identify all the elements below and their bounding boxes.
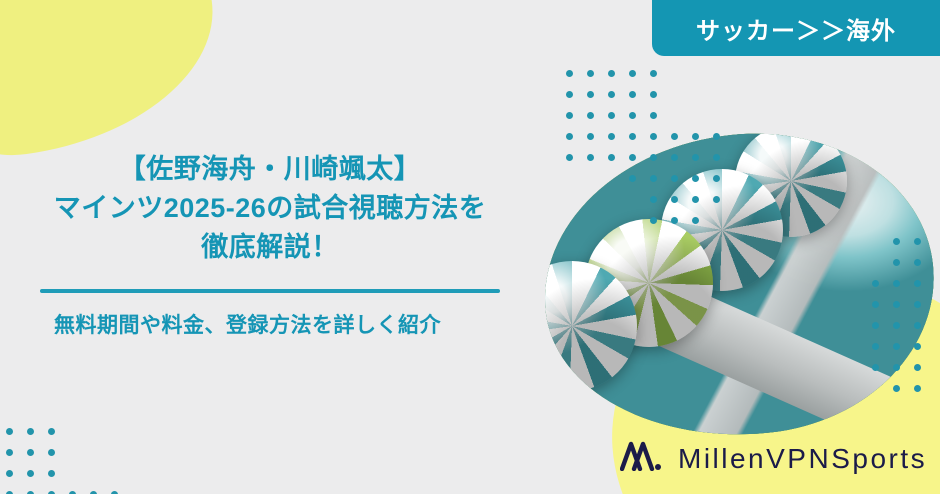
decorative-dot bbox=[671, 154, 678, 161]
decorative-dot bbox=[608, 91, 615, 98]
decorative-dot bbox=[566, 91, 573, 98]
decorative-dot bbox=[566, 133, 573, 140]
decorative-dot bbox=[872, 364, 879, 371]
decorative-dot bbox=[671, 175, 678, 182]
decorative-dot bbox=[872, 280, 879, 287]
decorative-dot bbox=[713, 196, 720, 203]
decorative-dot bbox=[914, 238, 921, 245]
decorative-dot bbox=[893, 301, 900, 308]
decorative-dot bbox=[893, 385, 900, 392]
category-badge-label: サッカー＞＞海外 bbox=[696, 11, 896, 46]
decorative-dot bbox=[893, 343, 900, 350]
decorative-dot bbox=[608, 112, 615, 119]
brand-logo: MillenVPNSports bbox=[620, 441, 927, 476]
decorative-dot bbox=[914, 364, 921, 371]
headline-line-2: マインツ2025-26の試合視聴方法を bbox=[22, 189, 518, 228]
decorative-dot bbox=[914, 385, 921, 392]
decorative-dot bbox=[914, 322, 921, 329]
decorative-dot bbox=[692, 196, 699, 203]
decorative-dot bbox=[893, 322, 900, 329]
decorative-dot bbox=[893, 238, 900, 245]
brand-logo-text: MillenVPNSports bbox=[678, 443, 927, 475]
decorative-dot bbox=[650, 217, 657, 224]
decorative-dot bbox=[608, 70, 615, 77]
decorative-dot bbox=[6, 449, 13, 456]
banner-canvas: サッカー＞＞海外 【佐野海舟・川崎颯太】 マインツ2025-26の試合視聴方法を… bbox=[0, 0, 940, 494]
decorative-dot bbox=[48, 428, 55, 435]
decorative-dot bbox=[650, 154, 657, 161]
decorative-dot bbox=[27, 449, 34, 456]
millenvpn-m-mark-icon bbox=[620, 441, 664, 476]
decorative-dot bbox=[914, 343, 921, 350]
decorative-dot bbox=[27, 428, 34, 435]
decorative-dot bbox=[914, 280, 921, 287]
decorative-dot bbox=[893, 259, 900, 266]
decorative-dot bbox=[671, 217, 678, 224]
decorative-dot bbox=[587, 91, 594, 98]
decorative-dot bbox=[6, 470, 13, 477]
decorative-dot bbox=[650, 112, 657, 119]
decorative-dot bbox=[566, 112, 573, 119]
decorative-dot bbox=[713, 154, 720, 161]
decorative-dot bbox=[629, 112, 636, 119]
decorative-dot bbox=[608, 154, 615, 161]
decorative-dot bbox=[6, 428, 13, 435]
decorative-dot bbox=[587, 154, 594, 161]
decorative-dot bbox=[692, 217, 699, 224]
decorative-dot bbox=[872, 343, 879, 350]
decorative-dot bbox=[629, 154, 636, 161]
category-badge[interactable]: サッカー＞＞海外 bbox=[652, 0, 940, 56]
decorative-dot bbox=[48, 470, 55, 477]
decorative-dot bbox=[713, 133, 720, 140]
headline-line-3: 徹底解説！ bbox=[22, 228, 518, 267]
decorative-dot bbox=[27, 470, 34, 477]
decorative-dot bbox=[692, 133, 699, 140]
decorative-dot bbox=[587, 133, 594, 140]
decorative-dot bbox=[608, 133, 615, 140]
decorative-dot bbox=[629, 70, 636, 77]
title-divider bbox=[40, 289, 500, 293]
decorative-dot bbox=[914, 259, 921, 266]
decorative-dot bbox=[629, 133, 636, 140]
decorative-dot bbox=[650, 175, 657, 182]
headline: 【佐野海舟・川崎颯太】 マインツ2025-26の試合視聴方法を 徹底解説！ bbox=[22, 150, 518, 267]
decorative-dot bbox=[629, 91, 636, 98]
decorative-dot bbox=[629, 175, 636, 182]
decorative-dot bbox=[650, 196, 657, 203]
decorative-dot bbox=[713, 175, 720, 182]
decorative-dot bbox=[893, 280, 900, 287]
decorative-dot bbox=[587, 70, 594, 77]
decorative-dot bbox=[650, 70, 657, 77]
headline-line-1: 【佐野海舟・川崎颯太】 bbox=[22, 150, 518, 189]
decorative-dot bbox=[48, 449, 55, 456]
decorative-dot bbox=[587, 112, 594, 119]
decorative-dot bbox=[893, 364, 900, 371]
decorative-dot bbox=[566, 154, 573, 161]
decorative-dot bbox=[914, 301, 921, 308]
decorative-dot bbox=[872, 301, 879, 308]
decorative-dot bbox=[692, 154, 699, 161]
decorative-dot bbox=[671, 196, 678, 203]
decorative-dot bbox=[692, 175, 699, 182]
decorative-dot bbox=[671, 133, 678, 140]
decorative-dot bbox=[872, 322, 879, 329]
decorative-dot bbox=[650, 133, 657, 140]
headline-block: 【佐野海舟・川崎颯太】 マインツ2025-26の試合視聴方法を 徹底解説！ 無料… bbox=[0, 150, 540, 343]
decorative-dot bbox=[650, 91, 657, 98]
subtitle: 無料期間や料金、登録方法を詳しく紹介 bbox=[22, 309, 518, 343]
decorative-dot bbox=[566, 70, 573, 77]
